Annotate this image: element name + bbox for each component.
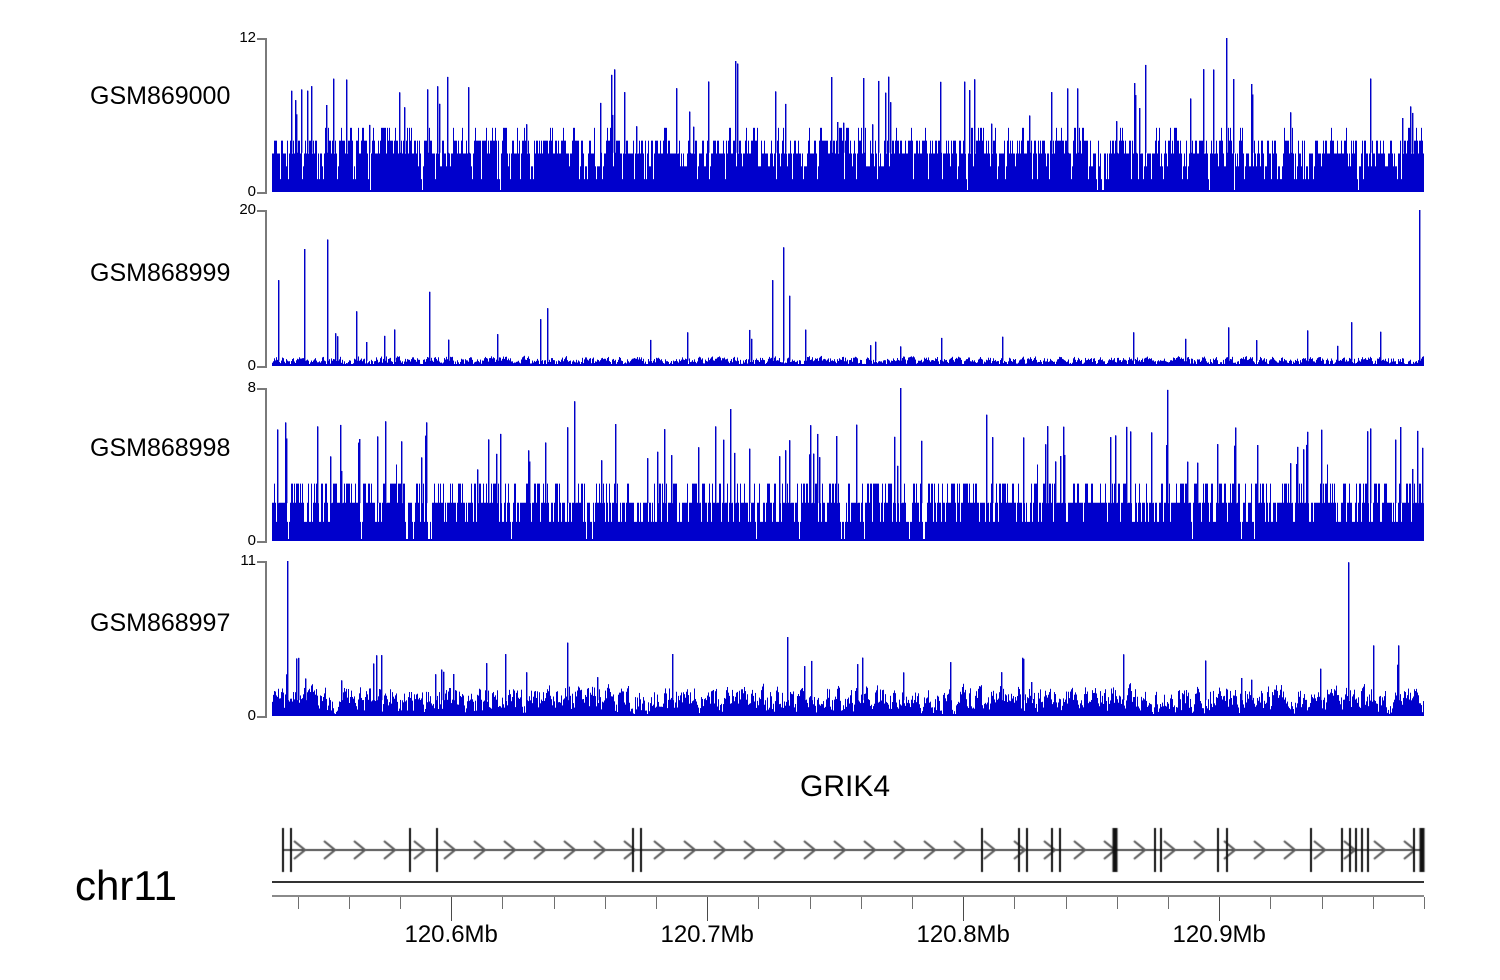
ruler-label-2: 120.8Mb [916,921,1009,949]
ruler-minor-tick [1117,897,1118,909]
track-label-gsm868997: GSM868997 [90,609,230,638]
ruler-minor-tick [656,897,657,909]
ruler-label-1: 120.7Mb [660,921,753,949]
ruler-minor-tick [349,897,350,909]
y-axis-tick [257,388,267,390]
coverage-canvas-gsm869000 [272,38,1424,192]
ruler-minor-tick [758,897,759,909]
axis-min-gsm868997: 0 [222,707,256,724]
y-axis-tick [257,210,267,212]
ruler-minor-tick [605,897,606,909]
axis-min-gsm868999: 0 [222,357,256,374]
chromosome-label: chr11 [75,862,177,910]
axis-max-gsm868997: 11 [222,552,256,569]
ruler-minor-tick [298,897,299,909]
axis-min-gsm868998: 0 [222,532,256,549]
ruler-minor-tick [1424,897,1425,909]
coverage-canvas-gsm868998 [272,388,1424,541]
ruler-minor-tick [912,897,913,909]
ruler-minor-tick [400,897,401,909]
ruler-minor-tick [502,897,503,909]
y-axis-tick [257,366,267,368]
ruler-major-tick [451,897,452,921]
ruler-minor-tick [861,897,862,909]
y-axis-line [265,561,267,717]
y-axis-tick [257,561,267,563]
ruler-minor-tick [1322,897,1323,909]
genome-browser-figure: GSM869000120GSM868999200GSM86899880GSM86… [0,0,1500,980]
ruler-minor-tick [1066,897,1067,909]
ruler-minor-tick [810,897,811,909]
ruler-axis-line [272,895,1424,897]
y-axis-tick [257,192,267,194]
axis-max-gsm869000: 12 [222,29,256,46]
track-label-gsm868999: GSM868999 [90,259,230,288]
ruler-minor-tick [1168,897,1169,909]
y-axis-line [265,210,267,367]
coverage-canvas-gsm868999 [272,210,1424,366]
ruler-label-0: 120.6Mb [404,921,497,949]
track-label-gsm869000: GSM869000 [90,82,230,111]
y-axis-tick [257,541,267,543]
ruler-major-tick [963,897,964,921]
gene-name-label: GRIK4 [800,770,890,804]
ruler-minor-tick [1270,897,1271,909]
ruler-major-tick [707,897,708,921]
chromosome-ruler: 120.6Mb120.7Mb120.8Mb120.9Mb [0,875,1500,980]
coverage-canvas-gsm868997 [272,561,1424,716]
y-axis-tick [257,716,267,718]
ruler-top-line [272,881,1424,883]
ruler-major-tick [1219,897,1220,921]
ruler-minor-tick [554,897,555,909]
track-label-gsm868998: GSM868998 [90,434,230,463]
axis-min-gsm869000: 0 [222,183,256,200]
y-axis-line [265,38,267,193]
ruler-label-3: 120.9Mb [1172,921,1265,949]
axis-max-gsm868998: 8 [222,379,256,396]
y-axis-tick [257,38,267,40]
gene-annotation-track: GRIK4 [0,760,1500,880]
axis-max-gsm868999: 20 [222,201,256,218]
y-axis-line [265,388,267,542]
ruler-minor-tick [1373,897,1374,909]
ruler-minor-tick [1014,897,1015,909]
